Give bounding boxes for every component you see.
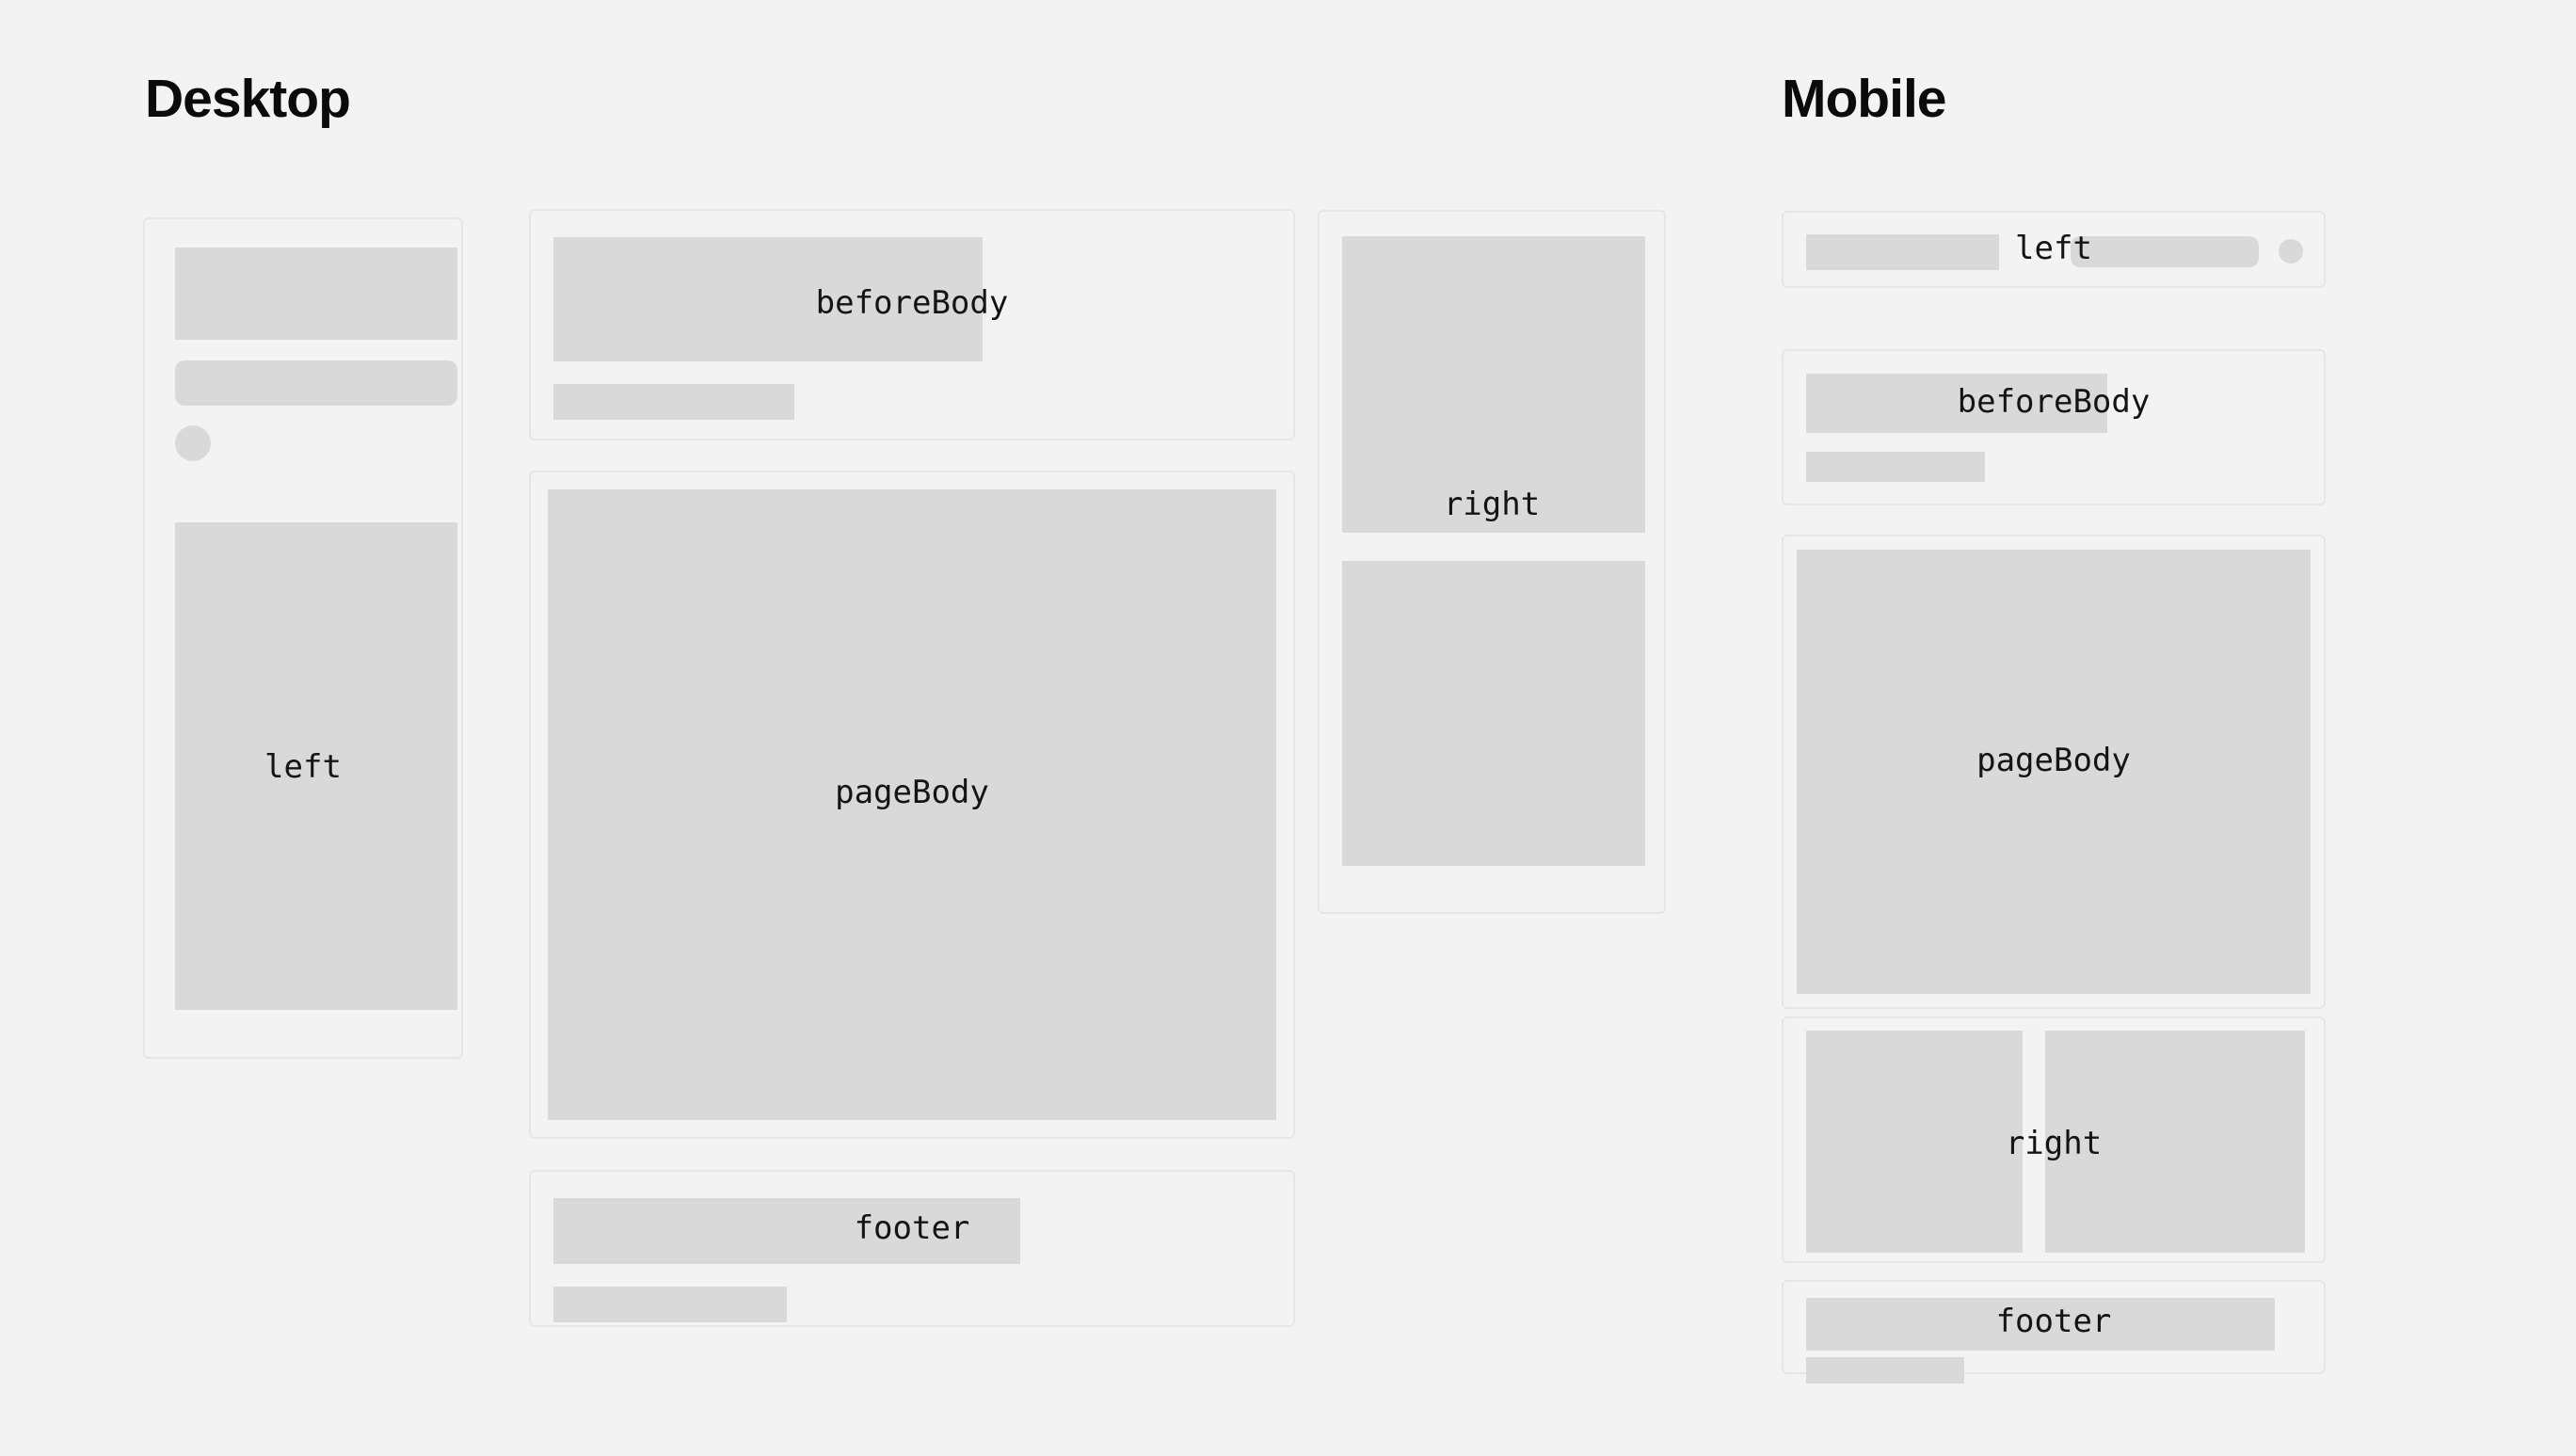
desktop-beforebody-caption-bar [553, 384, 794, 420]
wireframe-canvas: Desktop Mobile left beforeBody pageBody … [0, 0, 2576, 1456]
mobile-footer-caption-bar [1806, 1357, 1964, 1384]
mobile-beforebody-caption-bar [1806, 452, 1985, 482]
desktop-pagebody-body-block [548, 489, 1276, 1120]
mobile-pagebody-body-block [1797, 550, 2311, 994]
mobile-region-pagebody[interactable]: pageBody [1782, 535, 2326, 1009]
mobile-region-right[interactable]: right [1782, 1016, 2326, 1263]
desktop-left-subtitle-bar [175, 360, 457, 406]
desktop-left-avatar-dot-icon [175, 425, 211, 461]
mobile-region-left[interactable]: left [1782, 211, 2326, 288]
mobile-left-avatar-dot-icon [2279, 239, 2303, 264]
desktop-right-upper-block [1342, 236, 1645, 533]
mobile-left-header-block [1806, 234, 1999, 270]
desktop-region-right[interactable]: right [1318, 210, 1666, 914]
desktop-region-footer[interactable]: footer [529, 1170, 1295, 1327]
desktop-left-content-block [175, 522, 457, 1010]
desktop-region-pagebody[interactable]: pageBody [529, 471, 1295, 1139]
mobile-region-beforebody[interactable]: beforeBody [1782, 349, 2326, 505]
mobile-right-left-column-block [1806, 1031, 2023, 1253]
desktop-left-header-block [175, 248, 457, 340]
desktop-region-beforebody[interactable]: beforeBody [529, 209, 1295, 440]
desktop-column-title: Desktop [145, 72, 350, 126]
mobile-beforebody-primary-block [1806, 374, 2107, 433]
desktop-footer-caption-bar [553, 1287, 787, 1322]
desktop-region-left[interactable]: left [143, 217, 463, 1059]
mobile-column-title: Mobile [1782, 72, 1946, 126]
mobile-footer-primary-bar [1806, 1298, 2275, 1351]
mobile-right-right-column-block [2045, 1031, 2305, 1253]
desktop-footer-primary-bar [553, 1198, 1020, 1264]
desktop-right-lower-block [1342, 561, 1645, 866]
mobile-region-footer[interactable]: footer [1782, 1280, 2326, 1374]
desktop-beforebody-primary-block [553, 237, 983, 361]
mobile-left-subtitle-pill [2071, 236, 2259, 267]
